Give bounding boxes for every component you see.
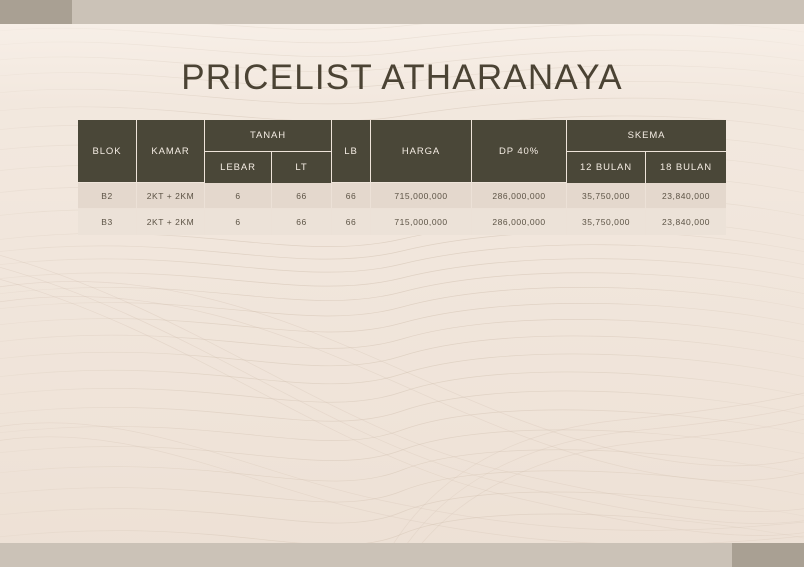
- pricelist-table-container: BLOK KAMAR TANAH LB HARGA DP 40% SKEMA L…: [78, 120, 726, 235]
- cell-lb: 66: [332, 209, 371, 235]
- header-lebar: LEBAR: [205, 152, 272, 183]
- cell-lb: 66: [332, 183, 371, 209]
- cell-18-bulan: 23,840,000: [646, 209, 726, 235]
- cell-harga: 715,000,000: [371, 183, 472, 209]
- table-row: B2 2KT + 2KM 6 66 66 715,000,000 286,000…: [78, 183, 726, 209]
- top-bar-light-segment: [72, 0, 804, 24]
- cell-12-bulan: 35,750,000: [567, 209, 646, 235]
- table-header: BLOK KAMAR TANAH LB HARGA DP 40% SKEMA L…: [78, 120, 726, 183]
- cell-lt: 66: [272, 183, 332, 209]
- cell-18-bulan: 23,840,000: [646, 183, 726, 209]
- cell-blok: B3: [78, 209, 137, 235]
- header-dp: DP 40%: [472, 120, 567, 183]
- header-harga: HARGA: [371, 120, 472, 183]
- cell-kamar: 2KT + 2KM: [137, 209, 205, 235]
- table-row: B3 2KT + 2KM 6 66 66 715,000,000 286,000…: [78, 209, 726, 235]
- cell-blok: B2: [78, 183, 137, 209]
- cell-harga: 715,000,000: [371, 209, 472, 235]
- bottom-bar-dark-segment: [732, 543, 804, 567]
- top-bar: [0, 0, 804, 24]
- cell-dp: 286,000,000: [472, 183, 567, 209]
- pricelist-table: BLOK KAMAR TANAH LB HARGA DP 40% SKEMA L…: [78, 120, 726, 235]
- header-18-bulan: 18 BULAN: [646, 152, 726, 183]
- cell-kamar: 2KT + 2KM: [137, 183, 205, 209]
- bottom-bar-light-segment: [0, 543, 732, 567]
- header-12-bulan: 12 BULAN: [567, 152, 646, 183]
- header-tanah: TANAH: [205, 120, 332, 152]
- cell-12-bulan: 35,750,000: [567, 183, 646, 209]
- cell-lt: 66: [272, 209, 332, 235]
- header-lb: LB: [332, 120, 371, 183]
- header-skema: SKEMA: [567, 120, 726, 152]
- page-title: PRICELIST ATHARANAYA: [0, 57, 804, 99]
- top-bar-dark-segment: [0, 0, 72, 24]
- bottom-bar: [0, 543, 804, 567]
- cell-dp: 286,000,000: [472, 209, 567, 235]
- pricelist-page: PRICELIST ATHARANAYA BLOK KAMAR TANAH: [0, 0, 804, 567]
- header-lt: LT: [272, 152, 332, 183]
- header-row-primary: BLOK KAMAR TANAH LB HARGA DP 40% SKEMA: [78, 120, 726, 152]
- cell-lebar: 6: [205, 209, 272, 235]
- header-blok: BLOK: [78, 120, 137, 183]
- table-body: B2 2KT + 2KM 6 66 66 715,000,000 286,000…: [78, 183, 726, 235]
- header-kamar: KAMAR: [137, 120, 205, 183]
- cell-lebar: 6: [205, 183, 272, 209]
